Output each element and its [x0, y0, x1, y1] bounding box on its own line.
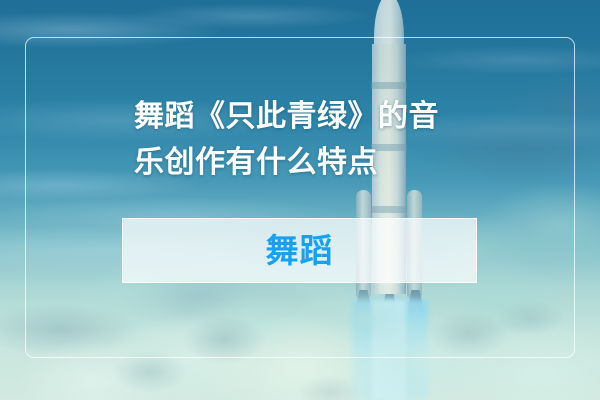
- tag-label: 舞蹈: [266, 234, 334, 267]
- card-headline: 舞蹈《只此青绿》的音 乐创作有什么特点: [134, 94, 464, 186]
- card-frame-border: [25, 37, 575, 358]
- tag-panel[interactable]: 舞蹈: [122, 218, 477, 283]
- thumbnail-card: 舞蹈《只此青绿》的音 乐创作有什么特点 舞蹈: [0, 0, 600, 400]
